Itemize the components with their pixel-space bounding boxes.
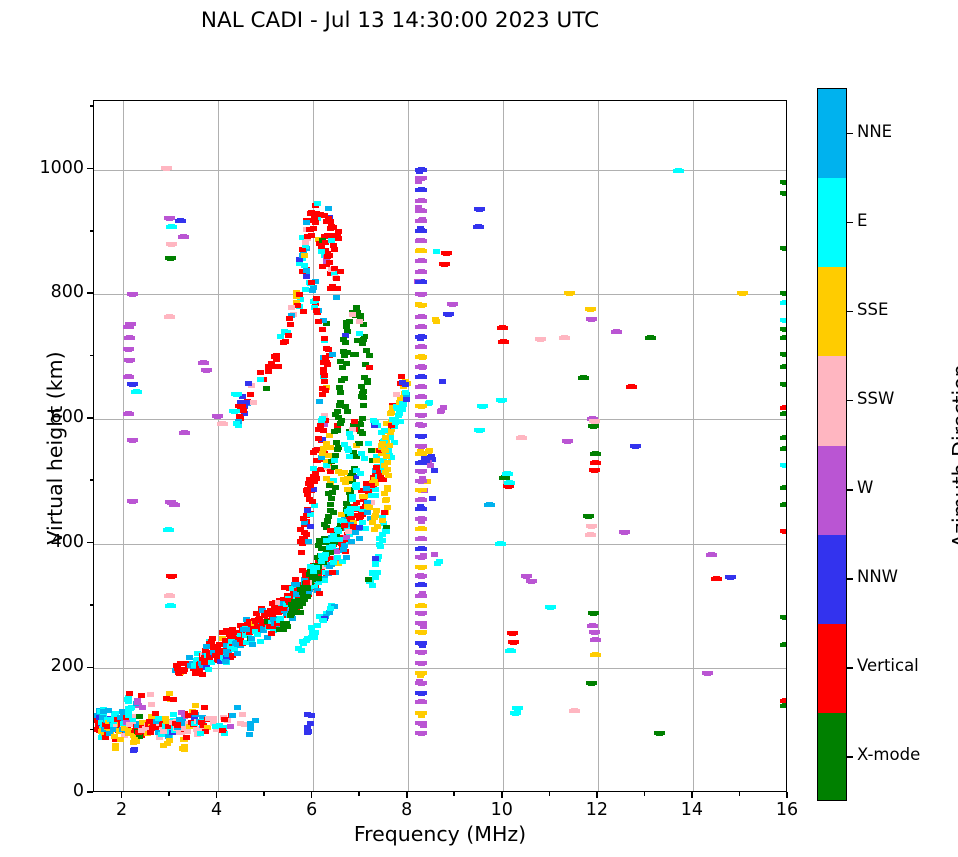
echo-point [780, 191, 787, 195]
echo-point [415, 498, 427, 502]
echo-point [354, 338, 361, 343]
echo-point [379, 518, 386, 523]
echo-point [415, 479, 427, 483]
colorbar-label-x-mode: X-mode [857, 745, 920, 764]
echo-point [780, 365, 787, 369]
echo-point [275, 364, 282, 369]
echo-point [124, 358, 135, 362]
echo-point [585, 307, 596, 311]
echo-point [376, 542, 383, 547]
echo-point [477, 404, 488, 408]
plot-area[interactable] [93, 100, 787, 792]
echo-point [239, 712, 246, 717]
echo-point [372, 420, 379, 425]
x-axis-minor-tick [549, 792, 551, 796]
echo-point [415, 469, 427, 473]
echo-point [365, 577, 372, 582]
echo-point [415, 671, 427, 675]
echo-point [780, 447, 787, 451]
x-axis-minor-tick [644, 792, 646, 796]
echo-point [415, 375, 427, 379]
echo-point [321, 379, 328, 384]
echo-point [285, 333, 292, 338]
echo-point [324, 254, 331, 259]
echo-point [130, 740, 137, 745]
echo-point [359, 431, 366, 436]
echo-point [337, 269, 344, 274]
echo-point [341, 442, 348, 447]
echo-point [415, 335, 427, 339]
echo-point [512, 706, 523, 710]
echo-point [303, 580, 310, 585]
echo-point [437, 409, 444, 414]
echo-point [180, 669, 187, 674]
echo-point [590, 461, 601, 465]
echo-point [415, 303, 427, 307]
colorbar-label-nnw: NNW [857, 567, 898, 586]
echo-point [504, 481, 515, 485]
echo-point [397, 419, 404, 424]
echo-point [304, 234, 311, 239]
echo-point [282, 339, 289, 344]
echo-point [590, 638, 601, 642]
echo-point [383, 454, 390, 459]
echo-point [198, 720, 205, 725]
colorbar-label-ssw: SSW [857, 389, 894, 408]
echo-point [415, 168, 427, 172]
x-axis-tick-label: 2 [92, 800, 152, 820]
echo-point [415, 507, 427, 511]
echo-point [737, 291, 748, 295]
echo-point [415, 444, 427, 448]
echo-point [337, 359, 344, 364]
echo-point [535, 337, 546, 341]
echo-point [333, 276, 340, 281]
echo-point [415, 176, 427, 180]
echo-point [363, 348, 370, 353]
echo-point [307, 512, 314, 517]
echo-point [415, 650, 427, 654]
echo-point [246, 732, 253, 737]
echo-point [335, 469, 342, 474]
echo-point [415, 731, 427, 735]
echo-point [356, 331, 363, 336]
echo-point [780, 643, 787, 647]
echo-point [337, 421, 344, 426]
echo-point [358, 394, 365, 399]
echo-point [780, 246, 787, 250]
echo-point [315, 319, 322, 324]
echo-point [780, 336, 787, 340]
echo-point [415, 547, 427, 551]
x-axis-tick [786, 792, 788, 798]
echo-point [361, 456, 368, 461]
echo-point [307, 524, 314, 529]
y-axis-minor-tick [90, 105, 94, 107]
x-axis-tick-label: 8 [377, 800, 437, 820]
echo-point [221, 717, 228, 722]
x-axis-tick [406, 792, 408, 798]
echo-point [336, 385, 343, 390]
colorbar-segment-ssw[interactable] [818, 356, 846, 446]
echo-point [308, 635, 315, 640]
echo-point [334, 447, 341, 452]
echo-point [305, 539, 312, 544]
echo-point [780, 699, 787, 703]
echo-point [415, 691, 427, 695]
echo-point [247, 392, 254, 397]
echo-point [363, 486, 370, 491]
colorbar-segment-sse[interactable] [818, 267, 846, 357]
echo-point [372, 561, 379, 566]
echo-point [337, 518, 344, 523]
echo-point [521, 574, 532, 578]
echo-point [257, 377, 264, 382]
echo-point [178, 710, 185, 715]
echo-point [358, 451, 365, 456]
echo-point [415, 452, 427, 456]
echo-point [179, 431, 190, 435]
echo-point [303, 274, 310, 279]
echo-point [310, 285, 317, 290]
echo-point [373, 508, 380, 513]
echo-point [299, 639, 306, 644]
echo-point [313, 308, 320, 313]
echo-point [376, 536, 383, 541]
echo-point [415, 249, 427, 253]
colorbar-tick [847, 578, 853, 580]
echo-point [384, 485, 391, 490]
echo-point [415, 209, 427, 213]
colorbar-segment-nne[interactable] [818, 89, 846, 179]
echo-point [578, 376, 589, 380]
echo-point [330, 560, 337, 565]
echo-point [166, 242, 177, 246]
echo-point [562, 439, 573, 443]
colorbar-label-w: W [857, 478, 873, 497]
echo-point [327, 508, 334, 513]
echo-point [329, 352, 336, 357]
echo-point [310, 466, 317, 471]
echo-point [645, 336, 656, 340]
echo-point [306, 227, 313, 232]
echo-point [415, 434, 427, 438]
echo-point [589, 468, 600, 472]
echo-point [366, 353, 373, 358]
echo-point [268, 631, 275, 636]
echo-point [382, 498, 389, 503]
echo-point [382, 435, 389, 440]
x-axis-tick-label: 6 [282, 800, 342, 820]
echo-point [564, 291, 575, 295]
echo-point [127, 438, 138, 442]
echo-point [415, 404, 427, 408]
echo-point [415, 517, 427, 521]
echo-point [175, 219, 186, 223]
echo-point [368, 448, 375, 453]
echo-point [415, 700, 427, 704]
echo-point [112, 743, 119, 748]
echo-point [288, 305, 295, 310]
echo-point [337, 390, 344, 395]
echo-point [320, 618, 327, 623]
echo-point [319, 386, 326, 391]
x-axis-tick [121, 792, 123, 798]
echo-point [396, 411, 403, 416]
echo-point [331, 429, 338, 434]
x-axis-tick [596, 792, 598, 798]
echo-point [247, 726, 254, 731]
echo-point [325, 491, 332, 496]
echo-point [381, 491, 388, 496]
y-axis-minor-tick [90, 479, 94, 481]
echo-point [415, 270, 427, 274]
echo-point [400, 402, 407, 407]
colorbar-segment-vertical[interactable] [818, 624, 846, 714]
echo-point [415, 461, 427, 465]
echo-point [126, 722, 133, 727]
echo-point [166, 691, 173, 696]
echo-point [302, 586, 309, 591]
echo-point [626, 385, 637, 389]
colorbar-segment-x-mode[interactable] [818, 713, 846, 801]
echo-point [415, 188, 427, 192]
echo-point [240, 408, 247, 413]
echo-point [415, 199, 427, 203]
echo-point [134, 698, 141, 703]
echo-point [127, 382, 138, 386]
echo-point [265, 364, 272, 369]
colorbar-title: Azimuth Direction [948, 296, 958, 616]
echo-point [495, 542, 506, 546]
echo-point [177, 661, 184, 666]
echo-point [780, 486, 787, 490]
echo-point [415, 385, 427, 389]
echo-point [346, 431, 353, 436]
echo-point [372, 493, 379, 498]
colorbar-segment-w[interactable] [818, 446, 846, 536]
echo-point [415, 630, 427, 634]
echo-point [280, 626, 287, 631]
echo-point [164, 594, 175, 598]
colorbar-tick [847, 489, 853, 491]
echo-point [310, 569, 317, 574]
colorbar-tick [847, 667, 853, 669]
y-axis-tick-label: 200 [14, 656, 84, 676]
y-axis-label: Virtual height (km) [43, 298, 67, 598]
echo-point [426, 400, 433, 405]
echo-point [300, 309, 307, 314]
echo-point [329, 570, 336, 575]
colorbar-tick [847, 400, 853, 402]
echo-point [138, 728, 145, 733]
echo-point [415, 259, 427, 263]
echo-point [415, 355, 427, 359]
colorbar-segment-e[interactable] [818, 178, 846, 268]
echo-point [298, 550, 305, 555]
page-title: NAL CADI - Jul 13 14:30:00 2023 UTC [0, 8, 800, 33]
echo-point [569, 709, 580, 713]
colorbar-segment-nnw[interactable] [818, 535, 846, 625]
echo-point [508, 640, 519, 644]
echo-point [234, 651, 241, 656]
echo-point [384, 505, 391, 510]
echo-point [152, 711, 159, 716]
echo-point [381, 463, 388, 468]
echo-point [439, 262, 450, 266]
y-axis-tick [87, 667, 93, 669]
echo-point [510, 711, 521, 715]
echo-point [320, 360, 327, 365]
echo-point [123, 347, 134, 351]
echo-point [161, 166, 172, 170]
y-axis-tick [87, 542, 93, 544]
echo-point [474, 207, 485, 211]
echo-point [505, 649, 516, 653]
echo-point [364, 378, 371, 383]
echo-point [235, 404, 246, 408]
echo-point [265, 369, 272, 374]
echo-point [344, 487, 351, 492]
echo-point [415, 611, 427, 615]
echo-point [227, 724, 234, 729]
echo-point [673, 169, 684, 173]
echo-point [307, 483, 314, 488]
echo-point [402, 390, 409, 395]
echo-point [304, 508, 311, 513]
x-axis-tick-label: 4 [187, 800, 247, 820]
echo-point [125, 322, 136, 326]
x-axis-tick-label: 12 [567, 800, 627, 820]
colorbar-label-nne: NNE [857, 122, 892, 141]
echo-point [393, 392, 400, 397]
echo-point [201, 705, 208, 710]
echo-point [559, 336, 570, 340]
echo-point [304, 492, 311, 497]
echo-point [611, 330, 622, 334]
x-axis-tick [311, 792, 313, 798]
echo-point [298, 648, 305, 653]
echo-point [326, 260, 333, 265]
echo-point [164, 315, 175, 319]
y-axis-tick [87, 168, 93, 170]
echo-point [124, 336, 135, 340]
y-axis-tick [87, 292, 93, 294]
y-axis-tick-label: 1000 [14, 158, 84, 178]
echo-point [335, 229, 342, 234]
echo-point [349, 494, 356, 499]
echo-point [340, 337, 347, 342]
echo-point [292, 577, 299, 582]
echo-point [372, 556, 379, 561]
echo-point [780, 327, 787, 331]
echo-point [356, 441, 363, 446]
echo-point [780, 529, 787, 533]
echo-point [586, 317, 597, 321]
echo-point [516, 436, 527, 440]
echo-point [415, 345, 427, 349]
colorbar[interactable] [817, 88, 847, 801]
echo-point [382, 470, 389, 475]
echo-point [308, 210, 315, 215]
echo-point [117, 737, 124, 742]
echo-point [725, 575, 736, 579]
echo-point [257, 370, 264, 375]
echo-point [415, 583, 427, 587]
echo-point [586, 681, 597, 685]
echo-point [229, 409, 240, 413]
echo-point [184, 729, 191, 734]
echo-point [323, 219, 330, 224]
echo-point [130, 748, 137, 753]
echo-point [502, 472, 513, 476]
echo-point [308, 713, 315, 718]
echo-point [316, 399, 323, 404]
echo-point [381, 447, 388, 452]
echo-point [155, 716, 162, 721]
echo-point [332, 485, 339, 490]
y-axis-minor-tick [90, 604, 94, 606]
echo-point [136, 714, 143, 719]
echo-point [315, 436, 322, 441]
echo-point [205, 667, 212, 672]
echo-point [588, 611, 599, 615]
echo-point [706, 553, 717, 557]
echo-point [345, 448, 352, 453]
echo-point [415, 280, 427, 284]
echo-point [247, 721, 254, 726]
echo-point [312, 220, 319, 225]
echo-point [402, 382, 409, 387]
echo-point [327, 286, 334, 291]
echo-point [317, 426, 324, 431]
echo-point [341, 470, 348, 475]
echo-point [507, 631, 518, 635]
echo-point [249, 642, 256, 647]
echo-point [339, 559, 346, 564]
echo-point [212, 414, 223, 418]
echo-point [300, 516, 307, 521]
echo-point [229, 713, 236, 718]
echo-point [127, 499, 138, 503]
echo-point [123, 412, 134, 416]
echo-point [431, 468, 438, 473]
echo-point [250, 400, 257, 405]
x-axis-tick-label: 16 [757, 800, 817, 820]
echo-point [780, 318, 787, 322]
echo-point [371, 527, 378, 532]
echo-point [498, 340, 509, 344]
echo-point [192, 703, 199, 708]
colorbar-label-e: E [857, 211, 867, 230]
echo-point [179, 746, 186, 751]
echo-point [780, 382, 787, 386]
colorbar-tick [847, 756, 853, 758]
echo-point [169, 503, 180, 507]
x-axis-tick [216, 792, 218, 798]
echo-point [474, 428, 485, 432]
echo-point [434, 561, 441, 566]
echo-point [219, 728, 226, 733]
x-axis-minor-tick [739, 792, 741, 796]
colorbar-label-sse: SSE [857, 300, 888, 319]
echo-point [588, 424, 599, 428]
echo-point [780, 615, 787, 619]
echo-point [313, 476, 320, 481]
echo-point [318, 418, 325, 423]
echo-point [196, 670, 203, 675]
echo-point [780, 503, 787, 507]
